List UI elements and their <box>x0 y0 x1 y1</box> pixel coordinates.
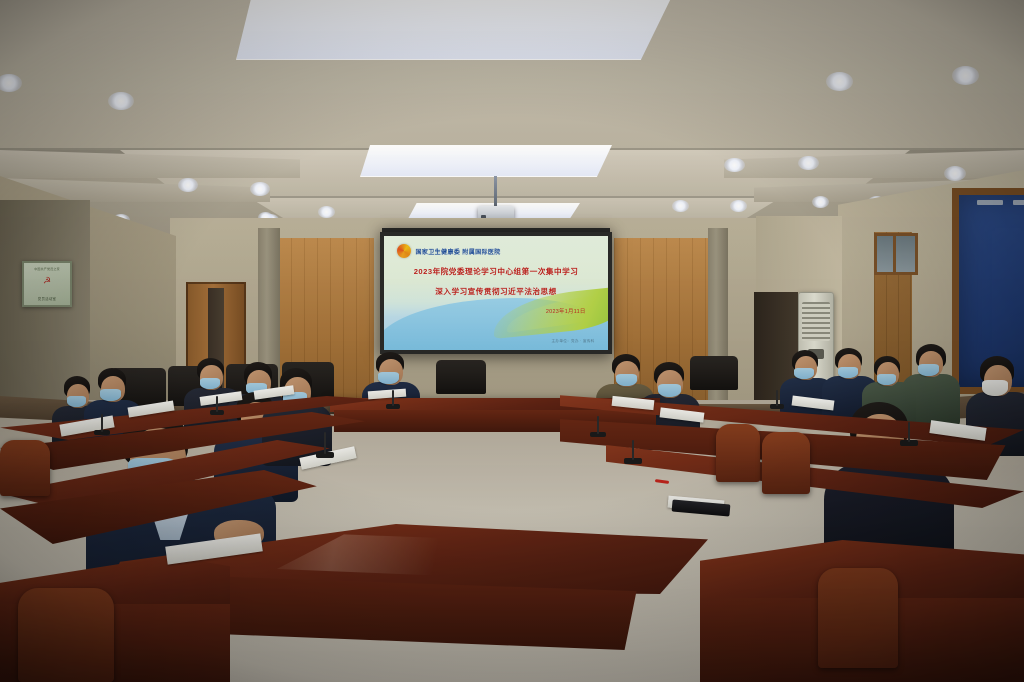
chair-right-1[interactable] <box>716 424 760 482</box>
plaque-top-text: 中国共产党员之家 <box>24 267 70 271</box>
slide-date: 2023年1月11日 <box>546 307 586 315</box>
downlight-7 <box>826 72 853 91</box>
microphone-neck-4 <box>597 416 599 434</box>
microphone-neck-1 <box>101 414 103 432</box>
microphone-neck-5 <box>632 440 634 460</box>
downlight-3 <box>178 178 198 192</box>
downlight-11 <box>672 200 689 212</box>
transom-window <box>874 233 918 275</box>
projection-screen: 国家卫生健康委 附属国际医院 2023年院党委理论学习中心组第一次集中学习 深入… <box>384 236 608 350</box>
attendee-L5-face-mask <box>200 378 220 389</box>
slide-footer: 主办单位：党办 · 宣传科 <box>552 339 595 344</box>
downlight-14 <box>944 166 966 181</box>
ceiling-panel-light-1 <box>236 0 676 60</box>
chair-left-1[interactable] <box>0 440 50 496</box>
projector-mount-arm <box>494 176 497 208</box>
attendee-R5-face-mask <box>918 364 939 376</box>
slide-logo-text: 国家卫生健康委 附属国际医院 <box>415 247 500 256</box>
microphone-neck-3 <box>392 390 394 406</box>
downlight-10 <box>798 156 819 170</box>
notice-board-label-1 <box>977 200 1003 205</box>
attendee-L6-face-mask <box>100 389 121 401</box>
window-mullion <box>893 236 896 272</box>
downlight-9 <box>724 158 745 172</box>
plaque-bottom-text: 党员活动室 <box>24 296 70 301</box>
party-activity-room-plaque: 中国共产党员之家 ☭ 党员活动室 <box>22 261 72 307</box>
attendee-R7-face-mask <box>982 380 1008 396</box>
institution-logo-icon <box>397 244 411 258</box>
chair-left-2[interactable] <box>18 588 114 682</box>
slide-subtitle: 深入学习宣传贯彻习近平法治思想 <box>391 286 602 297</box>
attendee-R3-face-mask <box>794 368 814 379</box>
ac-grille-icon <box>802 302 829 341</box>
microphone-neck-6 <box>776 390 778 406</box>
slide-title: 2023年院党委理论学习中心组第一次集中学习 <box>391 266 602 277</box>
downlight-2 <box>108 92 134 110</box>
attendee-R2-face-mask <box>658 384 681 397</box>
chair-row-back-5[interactable] <box>436 360 486 394</box>
attendee-R6-face-mask <box>877 374 896 385</box>
attendee-head-face-mask <box>378 372 399 384</box>
slide-logo-row: 国家卫生健康委 附属国际医院 <box>397 244 594 259</box>
chair-right-3[interactable] <box>818 568 898 668</box>
downlight-8 <box>952 66 979 85</box>
notice-board-label-2 <box>1013 200 1024 205</box>
ceiling-panel-light-2 <box>360 145 612 177</box>
downlight-13 <box>812 196 829 208</box>
attendee-R1-face-mask <box>616 374 637 386</box>
microphone-neck-7 <box>908 422 910 442</box>
meeting-room-photo: 中国共产党员之家 ☭ 党员活动室 国家卫生健康委 附属国际医院 2023年院党委… <box>0 0 1024 682</box>
downlight-4 <box>250 182 270 196</box>
hammer-sickle-icon: ☭ <box>43 277 51 286</box>
microphone-neck-2 <box>324 432 326 454</box>
attendee-R4-face-mask <box>838 367 858 378</box>
downlight-12 <box>730 200 747 212</box>
notice-board-header <box>965 199 1024 206</box>
microphone-neck-8 <box>216 396 218 412</box>
downlight-5 <box>318 206 335 218</box>
chair-right-2[interactable] <box>762 432 810 494</box>
